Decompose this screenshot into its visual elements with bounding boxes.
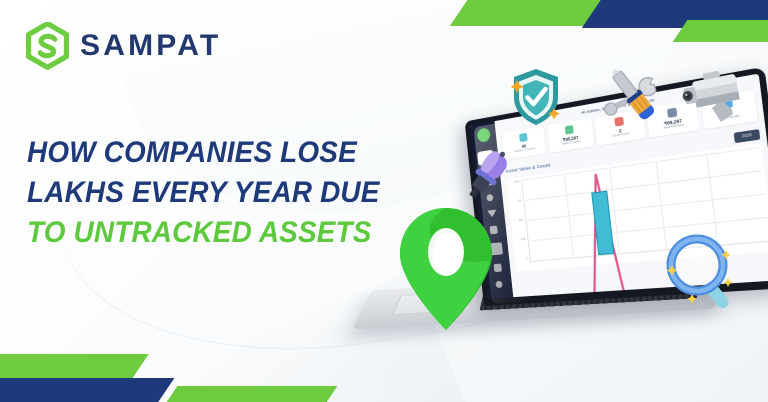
chart-year-button[interactable]: 2025 (734, 129, 760, 142)
stat-card[interactable]: 54 Total Transfer (700, 90, 758, 130)
brand-wordmark: SAMPAT (80, 31, 221, 61)
y-tick: 25K (521, 239, 526, 242)
stat-card[interactable]: ₹69,297 Total Purchase (646, 100, 700, 138)
sidebar-item-settings[interactable] (495, 281, 502, 288)
headline-line-3: TO UNTRACKED ASSETS (27, 213, 390, 253)
top-green-band (450, 0, 684, 26)
hexagon-s-logo-icon (26, 22, 69, 70)
stat-card[interactable]: 2 Scrap Count (595, 109, 646, 146)
bottom-navy-band (0, 378, 174, 402)
laptop-mockup: Hi Admin, Welcome to SAMPAT Lite 96 Numb… (372, 118, 768, 368)
sidebar-item-reports[interactable] (486, 194, 493, 202)
sidebar-item-location[interactable] (487, 210, 497, 218)
sidebar-item-users[interactable] (489, 226, 497, 235)
sidebar-item-assets[interactable] (481, 173, 495, 187)
bottom-green-band-secondary (163, 386, 338, 402)
y-tick: 75K (517, 200, 522, 203)
sidebar-item-maintenance[interactable] (488, 242, 502, 255)
banner-canvas: SAMPAT HOW COMPANIES LOSE LAKHS EVERY YE… (0, 0, 768, 402)
laptop-trackpad (392, 292, 474, 315)
tag-icon (565, 125, 574, 135)
scrap-icon (614, 117, 624, 127)
dashboard-screen: Hi Admin, Welcome to SAMPAT Lite 96 Numb… (470, 74, 768, 299)
y-tick: 0 (526, 258, 528, 261)
purchase-icon (667, 108, 677, 118)
laptop-lid: Hi Admin, Welcome to SAMPAT Lite 96 Numb… (465, 67, 768, 306)
brand-logo-lockup: SAMPAT (26, 22, 221, 70)
top-green-band-secondary (673, 20, 768, 42)
y-tick: 50K (519, 219, 524, 222)
headline: HOW COMPANIES LOSE LAKHS EVERY YEAR DUE … (27, 133, 417, 253)
top-navy-band (582, 0, 768, 28)
stat-card[interactable]: 96 Number of Assets (501, 126, 546, 160)
headline-line-1: HOW COMPANIES LOSE (27, 133, 390, 173)
transfer-icon (722, 98, 733, 109)
chart-title: Asset Value & Count (505, 162, 550, 174)
stat-card[interactable]: ₹95,297 Value of Assets (547, 118, 595, 153)
chart-trend-line (522, 146, 768, 298)
bottom-green-band (0, 354, 149, 380)
y-tick: 100K (513, 181, 519, 184)
dashboard-main: Hi Admin, Welcome to SAMPAT Lite 96 Numb… (494, 74, 768, 298)
sidebar-item-tools[interactable] (493, 264, 501, 273)
asset-box-icon (519, 133, 528, 142)
sidebar-item-dashboard[interactable] (477, 150, 494, 166)
headline-line-2: LAKHS EVERY YEAR DUE (27, 173, 390, 213)
app-logo-icon (476, 127, 490, 143)
